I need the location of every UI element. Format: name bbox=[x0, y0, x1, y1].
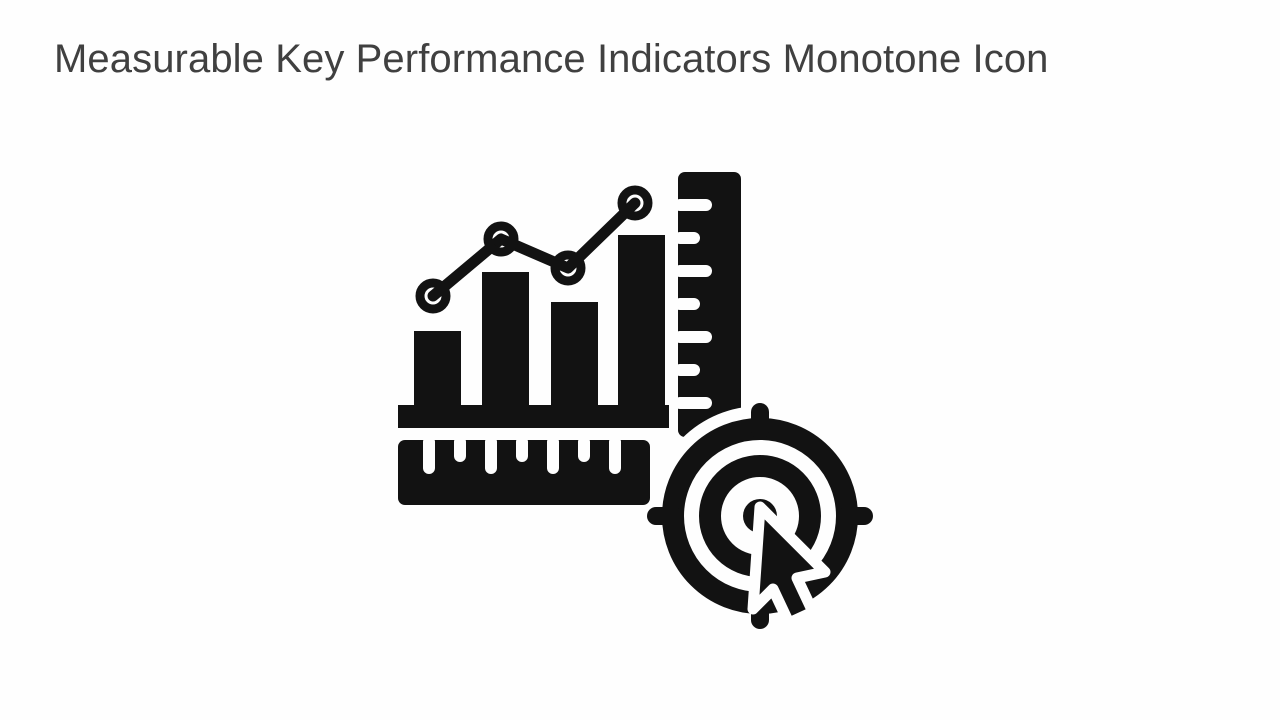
bar-chart-group bbox=[398, 235, 669, 428]
ruler-tick-v-1 bbox=[674, 199, 712, 211]
ruler-tick-v-5 bbox=[674, 331, 712, 343]
crosshair-mark-north bbox=[751, 403, 769, 439]
trend-line-path bbox=[433, 203, 635, 296]
ruler-tick-h-5 bbox=[547, 436, 559, 474]
ruler-tick-h-4 bbox=[516, 436, 528, 462]
measurable-kpi-monotone-icon bbox=[0, 120, 1280, 680]
crosshair-mark-east bbox=[837, 507, 873, 525]
ruler-tick-h-3 bbox=[485, 436, 497, 474]
vertical-ruler bbox=[674, 172, 741, 437]
ruler-tick-h-2 bbox=[454, 436, 466, 462]
chart-bar-3 bbox=[551, 302, 598, 405]
page-title: Measurable Key Performance Indicators Mo… bbox=[54, 32, 1244, 86]
chart-baseline bbox=[398, 405, 669, 428]
ruler-tick-h-7 bbox=[609, 436, 621, 474]
crosshair-mark-west bbox=[647, 507, 683, 525]
ruler-tick-v-6 bbox=[674, 364, 700, 376]
ruler-tick-v-4 bbox=[674, 298, 700, 310]
ruler-tick-h-6 bbox=[578, 436, 590, 462]
horizontal-ruler bbox=[398, 436, 650, 505]
ruler-tick-v-7 bbox=[674, 397, 712, 409]
chart-bar-1 bbox=[414, 331, 461, 405]
chart-bar-2 bbox=[482, 272, 529, 405]
trend-line-group bbox=[420, 190, 648, 309]
ruler-tick-v-2 bbox=[674, 232, 700, 244]
ruler-tick-v-3 bbox=[674, 265, 712, 277]
ruler-tick-h-1 bbox=[423, 436, 435, 474]
slide-canvas: Measurable Key Performance Indicators Mo… bbox=[0, 0, 1280, 720]
kpi-icon-container bbox=[0, 120, 1280, 680]
chart-bar-4 bbox=[618, 235, 665, 405]
